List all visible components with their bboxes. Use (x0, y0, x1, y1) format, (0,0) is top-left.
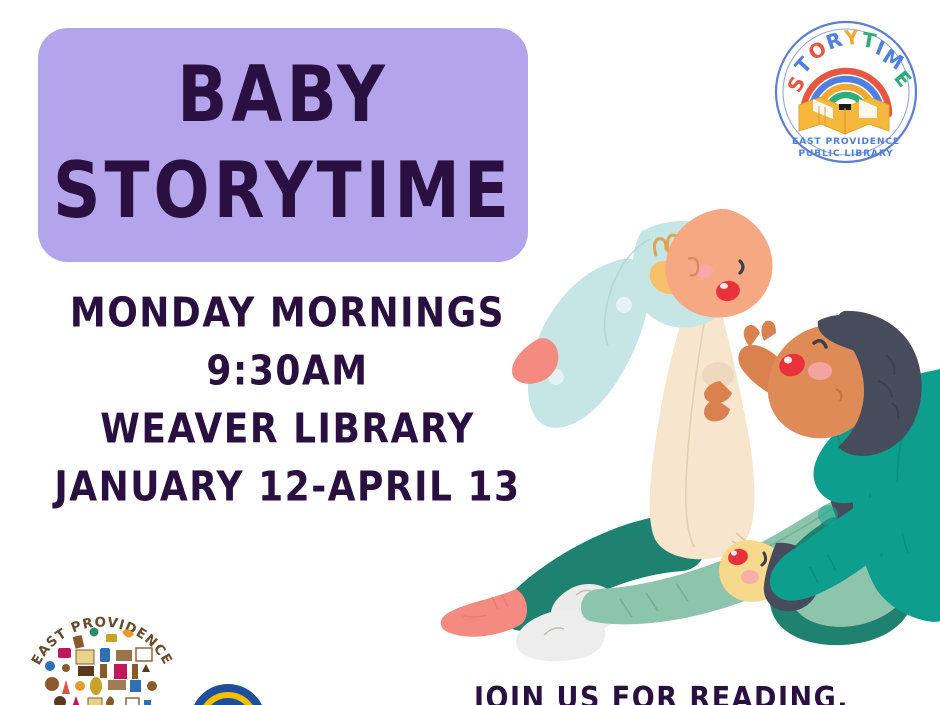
adult-cheek (808, 362, 832, 380)
baby1-teeth (720, 283, 728, 289)
adult-finger-2 (761, 321, 776, 341)
baby2-cheek (741, 570, 759, 584)
storytime-logo: S T O R Y T I M E EAST PROVIDENCE PUBLIC… (773, 18, 919, 166)
adult-raised-legs (650, 285, 755, 559)
city-seal-badge (188, 682, 268, 705)
illustration-svg (420, 185, 940, 665)
city-seal-svg (188, 682, 268, 705)
logo-sub-line-2: PUBLIC LIBRARY (798, 148, 893, 159)
sleeve-highlight (818, 505, 838, 525)
adult-lifting-baby-illustration (420, 185, 940, 665)
wordmark-letter-Y: Y (842, 25, 860, 50)
east-providence-logo-svg: EAST PROVIDENCE (22, 592, 182, 705)
poster-canvas: BABY STORYTIME MONDAY MORNINGS 9:30AM WE… (0, 0, 940, 705)
east-providence-logo: EAST PROVIDENCE (22, 592, 182, 705)
title-line-1: BABY (177, 56, 389, 134)
tagline-text: JOIN US FOR READING, (474, 681, 849, 705)
baby2-teeth (731, 550, 737, 555)
storytime-logo-svg: S T O R Y T I M E EAST PROVIDENCE PUBLIC… (773, 18, 919, 166)
logo-sub-line-1: EAST PROVIDENCE (792, 136, 900, 147)
adult-finger-1 (744, 325, 760, 347)
adult-teeth (784, 357, 792, 364)
